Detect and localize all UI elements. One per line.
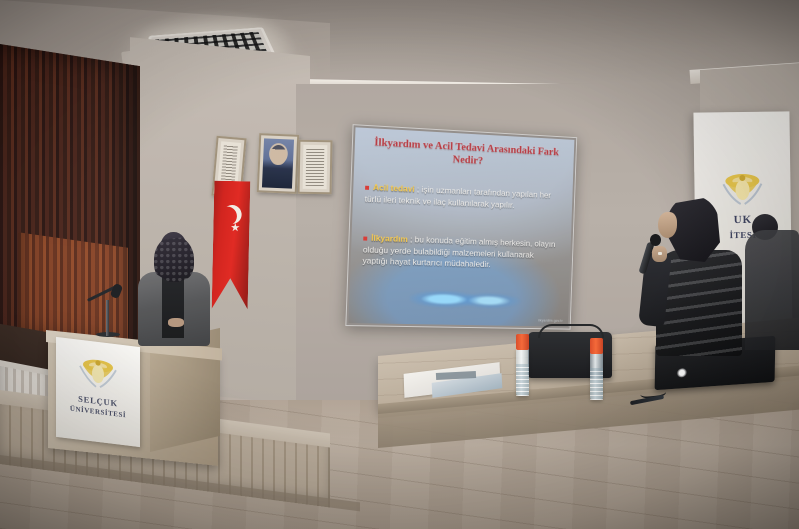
- slide-bullet-1-keyword: Acil tedavi: [373, 182, 415, 194]
- bullet-marker-icon: [365, 185, 369, 189]
- slide-bullet-2-keyword: İlkyardım: [371, 233, 408, 244]
- presenter-ring: [658, 252, 662, 255]
- person-hand: [168, 318, 184, 327]
- water-bottle: [516, 348, 529, 396]
- water-bottle: [590, 352, 603, 400]
- university-emblem-icon: [78, 352, 118, 395]
- background-person: [745, 230, 799, 350]
- person-headscarf: [154, 236, 194, 282]
- microphone-stand-pole: [106, 300, 109, 336]
- ataturk-portrait-image: [262, 138, 294, 188]
- podium-banner: SELÇUK ÜNİVERSİTESİ: [56, 337, 140, 447]
- laptop-light-reflection: [677, 368, 687, 378]
- presenter-with-microphone: [636, 196, 756, 356]
- person-inner-garment: [162, 274, 184, 338]
- frame-inner: [303, 145, 328, 189]
- framed-ataturk-portrait: [257, 133, 300, 194]
- person-at-podium: [132, 232, 214, 344]
- presentation-slide: İlkyardım ve Acil Tedavi Arasındaki Fark…: [348, 127, 574, 326]
- framed-genclige-hitabe: [298, 140, 333, 195]
- conference-room-photo: ★ İlkyardım ve Acil Tedavi Arasındaki Fa…: [0, 0, 799, 529]
- slide-bullet-1: Acil tedavi ; işin uzmanları tarafından …: [365, 182, 561, 213]
- bottle-cap: [590, 338, 603, 354]
- bottle-cap: [516, 334, 529, 350]
- handheld-microphone-head-icon: [650, 234, 661, 246]
- slide-bullet-2: İlkyardım ; bu konuda eğitim almış herke…: [362, 233, 559, 273]
- slide-title: İlkyardım ve Acil Tedavi Arasındaki Fark…: [365, 136, 567, 172]
- document-text-lines: [306, 148, 325, 186]
- projection-screen: İlkyardım ve Acil Tedavi Arasındaki Fark…: [345, 124, 577, 329]
- presenter-face: [658, 212, 677, 238]
- bottle-ribs: [516, 364, 529, 396]
- bottle-ribs: [590, 368, 603, 400]
- slide-credit: ilkyardim.gov.tr: [538, 319, 563, 323]
- flag-star-icon: ★: [230, 224, 238, 232]
- bullet-marker-icon: [363, 236, 367, 240]
- slide-lightning-graphic: [409, 286, 523, 314]
